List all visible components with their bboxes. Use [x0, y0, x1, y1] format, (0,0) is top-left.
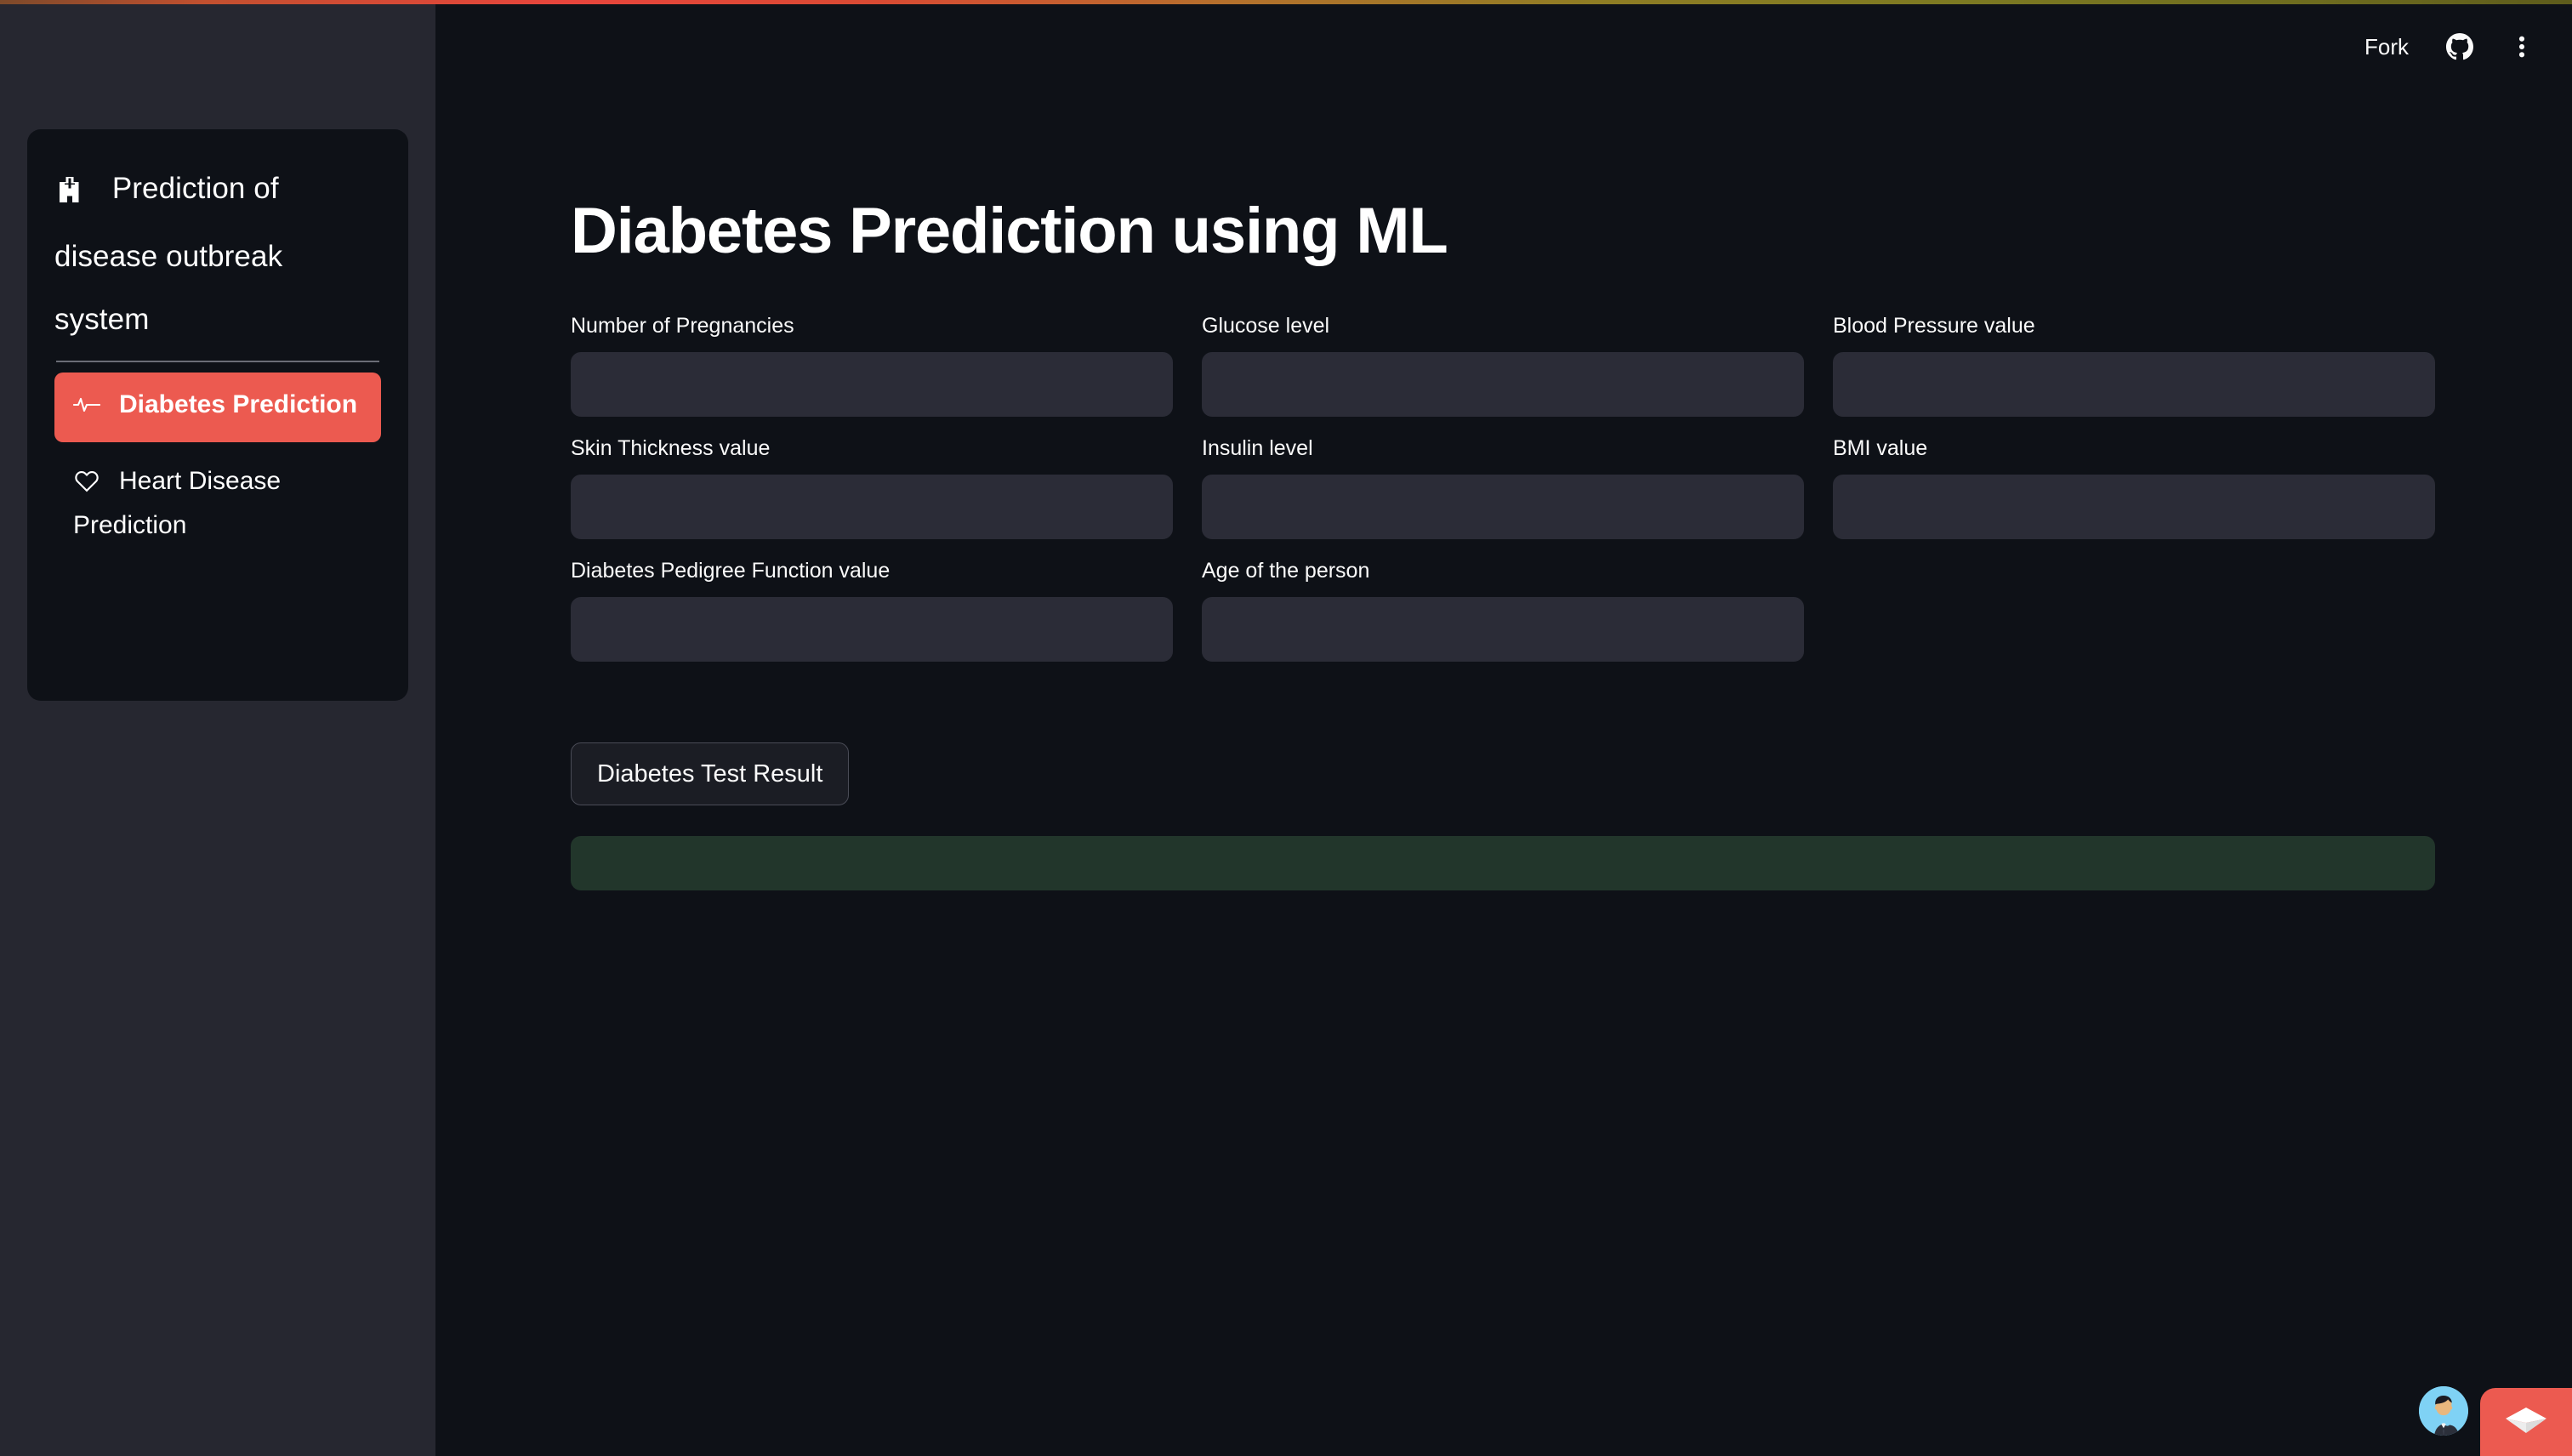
prediction-form: Number of Pregnancies Glucose level Bloo…	[571, 311, 2435, 679]
sidebar-menu-title-text: Prediction of disease outbreak system	[54, 172, 282, 336]
sidebar-item-diabetes-prediction[interactable]: Diabetes Prediction	[54, 373, 381, 442]
form-row: Diabetes Pedigree Function value Age of …	[571, 556, 2435, 662]
heart-outline-icon	[73, 464, 102, 505]
sidebar: Prediction of disease outbreak system Di…	[0, 0, 435, 1456]
form-field-age: Age of the person	[1202, 556, 1804, 662]
insulin-input[interactable]	[1202, 475, 1804, 539]
field-label: Number of Pregnancies	[571, 311, 1173, 340]
field-label: Insulin level	[1202, 434, 1804, 463]
glucose-input[interactable]	[1202, 352, 1804, 417]
prediction-result-banner	[571, 836, 2435, 890]
top-accent-bar	[0, 0, 2572, 4]
sidebar-item-heart-disease-prediction[interactable]: Heart Disease Prediction	[54, 449, 381, 560]
form-field-blood-pressure: Blood Pressure value	[1833, 311, 2435, 417]
sidebar-menu-title: Prediction of disease outbreak system	[54, 158, 381, 352]
form-field-number-of-pregnancies: Number of Pregnancies	[571, 311, 1173, 417]
form-row: Skin Thickness value Insulin level BMI v…	[571, 434, 2435, 539]
skin-thickness-input[interactable]	[571, 475, 1173, 539]
user-avatar[interactable]	[2419, 1386, 2468, 1436]
form-field-glucose-level: Glucose level	[1202, 311, 1804, 417]
main-content: Diabetes Prediction using ML Number of P…	[435, 0, 2572, 1456]
pedigree-function-input[interactable]	[571, 597, 1173, 662]
activity-pulse-icon	[73, 388, 102, 429]
github-icon[interactable]	[2446, 33, 2473, 60]
form-row: Number of Pregnancies Glucose level Bloo…	[571, 311, 2435, 417]
sidebar-menu-card: Prediction of disease outbreak system Di…	[27, 129, 408, 701]
age-input[interactable]	[1202, 597, 1804, 662]
page-title: Diabetes Prediction using ML	[571, 192, 1448, 270]
manage-app-button[interactable]	[2480, 1388, 2572, 1456]
bmi-input[interactable]	[1833, 475, 2435, 539]
hospital-icon	[54, 165, 85, 226]
form-cell-empty	[1833, 556, 2435, 662]
sidebar-item-label: Diabetes Prediction	[119, 390, 357, 418]
sidebar-divider	[56, 361, 379, 362]
form-field-diabetes-pedigree-function: Diabetes Pedigree Function value	[571, 556, 1173, 662]
diabetes-test-result-button[interactable]: Diabetes Test Result	[571, 742, 849, 805]
field-label: Glucose level	[1202, 311, 1804, 340]
form-field-skin-thickness: Skin Thickness value	[571, 434, 1173, 539]
blood-pressure-input[interactable]	[1833, 352, 2435, 417]
field-label: Skin Thickness value	[571, 434, 1173, 463]
form-field-insulin-level: Insulin level	[1202, 434, 1804, 539]
sidebar-item-label: Heart Disease Prediction	[73, 467, 281, 539]
fork-button[interactable]: Fork	[2364, 34, 2409, 60]
form-field-bmi-value: BMI value	[1833, 434, 2435, 539]
app-header-toolbar: Fork	[435, 0, 2572, 94]
pregnancies-input[interactable]	[571, 352, 1173, 417]
field-label: Age of the person	[1202, 556, 1804, 585]
field-label: Diabetes Pedigree Function value	[571, 556, 1173, 585]
streamlit-origami-icon	[2504, 1404, 2548, 1441]
field-label: BMI value	[1833, 434, 2435, 463]
field-label: Blood Pressure value	[1833, 311, 2435, 340]
three-dots-vertical-icon[interactable]	[2511, 33, 2533, 60]
